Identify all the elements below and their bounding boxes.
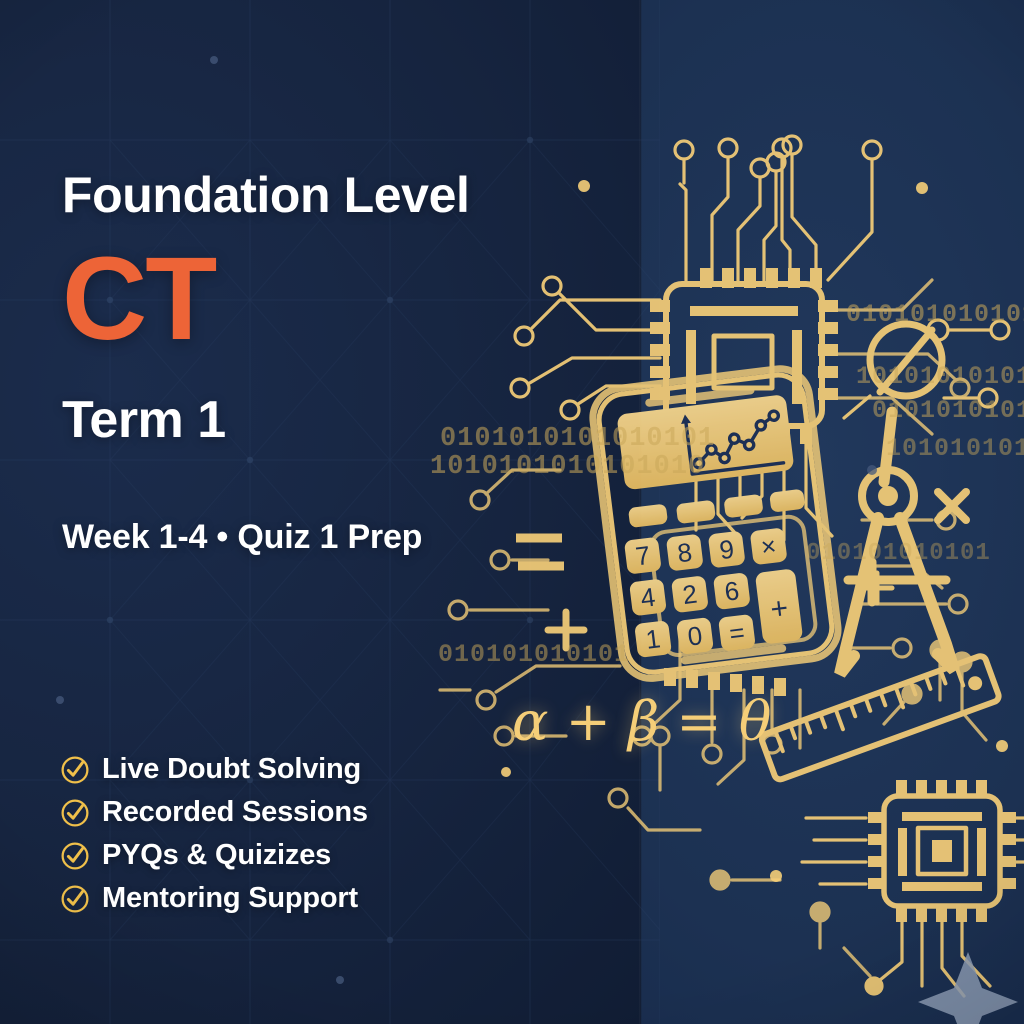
list-item: PYQs & Quizizes [60,834,580,877]
list-item: Live Doubt Solving [60,748,580,791]
kicker-text: Foundation Level [62,166,470,224]
check-circle-icon [60,884,90,914]
check-circle-icon [60,798,90,828]
feature-label: Mentoring Support [102,882,358,915]
feature-label: PYQs & Quizizes [102,839,331,872]
feature-label: Recorded Sessions [102,796,368,829]
check-circle-icon [60,755,90,785]
feature-label: Live Doubt Solving [102,753,361,786]
subtitle-text: Week 1-4 • Quiz 1 Prep [62,518,422,557]
list-item: Recorded Sessions [60,791,580,834]
course-code: CT [62,240,215,358]
background-panel-right [641,0,1024,1024]
feature-list: Live Doubt Solving Recorded Sessions PYQ… [60,748,580,920]
term-label: Term 1 [62,390,226,450]
check-circle-icon [60,841,90,871]
promo-poster: 78 9× 426 10= + [0,0,1024,1024]
list-item: Mentoring Support [60,877,580,920]
